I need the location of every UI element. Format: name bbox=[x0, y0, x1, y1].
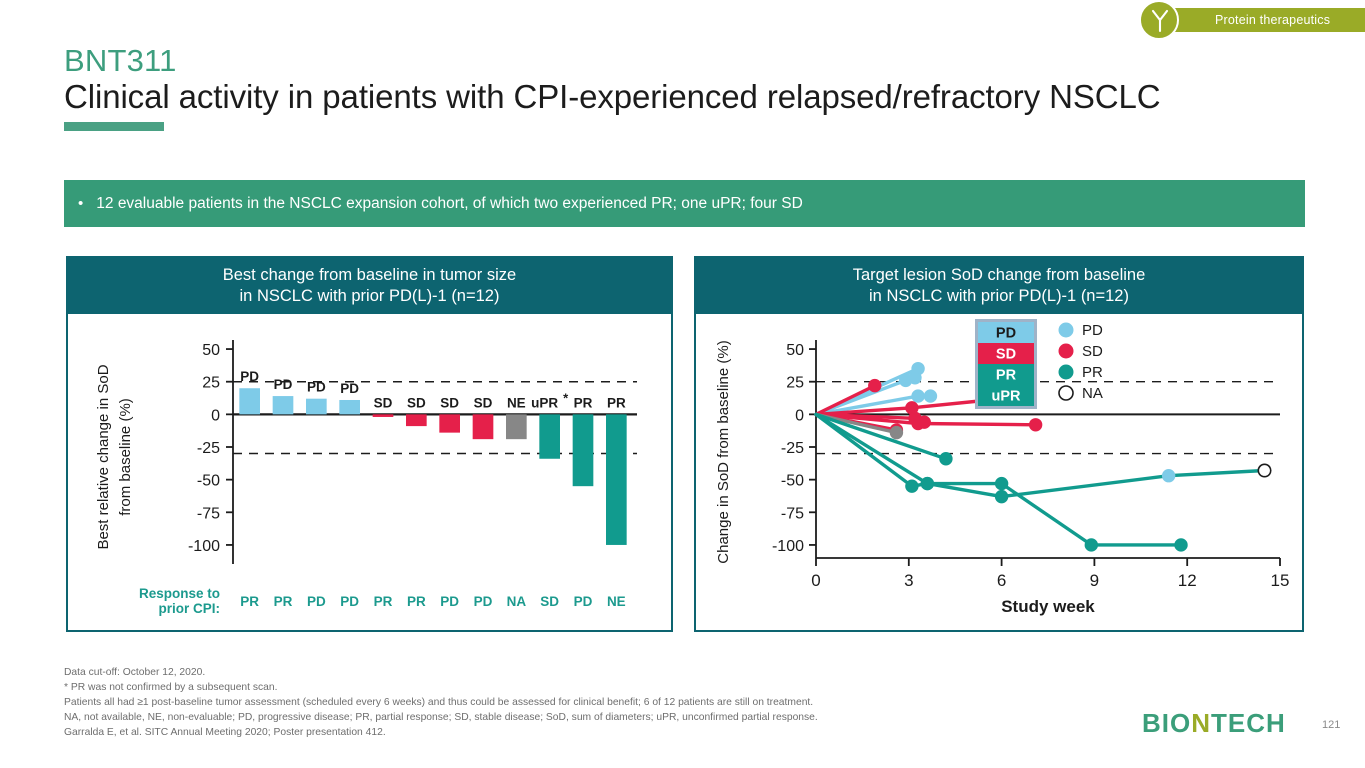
legend-block-label: SD bbox=[996, 347, 1016, 363]
waterfall-prior-cpi-value: PR bbox=[374, 594, 393, 609]
waterfall-bar bbox=[273, 396, 294, 414]
waterfall-chart-body: 50250-25-50-75-100PDPRPDPRPDPDPDPDSDPRSD… bbox=[68, 314, 671, 632]
antibody-icon bbox=[1139, 0, 1179, 40]
waterfall-bar-label: SD bbox=[374, 395, 393, 410]
legend-dot bbox=[1059, 386, 1073, 400]
spider-x-axis-title: Study week bbox=[1001, 597, 1095, 616]
waterfall-bar-label-asterisk: * bbox=[563, 390, 569, 405]
slide-kicker: BNT311 bbox=[64, 43, 177, 79]
waterfall-chart-panel: Best change from baseline in tumor size … bbox=[66, 256, 673, 632]
response-to-prior-cpi-label-line2: prior CPI: bbox=[158, 601, 220, 616]
spider-data-point bbox=[924, 390, 936, 402]
spider-y-tick: 25 bbox=[786, 375, 804, 392]
page-title: Clinical activity in patients with CPI-e… bbox=[64, 78, 1161, 116]
bullet-icon: • bbox=[78, 195, 83, 212]
waterfall-bar-label: PR bbox=[607, 395, 626, 410]
spider-data-point bbox=[909, 372, 921, 384]
waterfall-y-tick: 0 bbox=[211, 407, 220, 424]
spider-data-point bbox=[1258, 464, 1270, 476]
footnotes: Data cut-off: October 12, 2020.* PR was … bbox=[64, 666, 818, 741]
legend-block-label: uPR bbox=[992, 389, 1022, 405]
waterfall-title-line1: Best change from baseline in tumor size bbox=[223, 265, 516, 286]
spider-title-line1: Target lesion SoD change from baseline bbox=[853, 265, 1146, 286]
waterfall-bar-label: PD bbox=[240, 369, 259, 384]
waterfall-bar-label: PD bbox=[274, 377, 293, 392]
waterfall-bar bbox=[439, 414, 460, 432]
spider-x-tick: 0 bbox=[811, 571, 820, 590]
category-badge-label: Protein therapeutics bbox=[1215, 13, 1330, 27]
legend-dot bbox=[1059, 344, 1073, 358]
waterfall-y-tick: -50 bbox=[197, 473, 220, 490]
spider-y-tick: -50 bbox=[781, 473, 804, 490]
title-underline bbox=[64, 122, 164, 131]
legend-dot bbox=[1059, 323, 1073, 337]
spider-x-tick: 12 bbox=[1178, 571, 1197, 590]
spider-chart-body: 50250-25-50-75-10003691215Change in SoD … bbox=[696, 314, 1302, 632]
waterfall-prior-cpi-value: PD bbox=[307, 594, 326, 609]
waterfall-y-axis-title-line1: Best relative change in SoD bbox=[95, 364, 112, 549]
waterfall-bar-label: PR bbox=[574, 395, 593, 410]
spider-chart-svg: 50250-25-50-75-10003691215Change in SoD … bbox=[696, 314, 1302, 632]
spider-data-point bbox=[1085, 539, 1097, 551]
waterfall-bar-label: SD bbox=[474, 395, 493, 410]
waterfall-y-tick: -25 bbox=[197, 440, 220, 457]
waterfall-bar bbox=[373, 414, 394, 417]
spider-y-axis-title: Change in SoD from baseline (%) bbox=[715, 340, 732, 563]
category-badge-bar: Protein therapeutics bbox=[1165, 8, 1365, 32]
waterfall-bar-label: SD bbox=[440, 395, 459, 410]
waterfall-prior-cpi-value: NA bbox=[507, 594, 527, 609]
footnote-line: * PR was not confirmed by a subsequent s… bbox=[64, 681, 818, 696]
spider-data-point bbox=[921, 477, 933, 489]
waterfall-y-tick: -75 bbox=[197, 505, 220, 522]
waterfall-y-axis-title-line2: from baseline (%) bbox=[117, 398, 134, 516]
spider-data-point bbox=[1175, 539, 1187, 551]
waterfall-bar bbox=[339, 400, 360, 414]
logo-part-1: BIO bbox=[1142, 708, 1191, 738]
waterfall-chart-svg: 50250-25-50-75-100PDPRPDPRPDPDPDPDSDPRSD… bbox=[68, 314, 671, 632]
logo-part-3: TECH bbox=[1211, 708, 1286, 738]
page-number: 121 bbox=[1322, 719, 1340, 731]
spider-data-point bbox=[995, 477, 1007, 489]
legend-dot-label: PR bbox=[1082, 364, 1103, 381]
waterfall-bar bbox=[506, 414, 527, 439]
spider-x-tick: 3 bbox=[904, 571, 913, 590]
waterfall-bar bbox=[539, 414, 560, 458]
waterfall-prior-cpi-value: PD bbox=[440, 594, 459, 609]
waterfall-bar bbox=[239, 388, 260, 414]
waterfall-bar bbox=[473, 414, 494, 439]
waterfall-bar-label: SD bbox=[407, 395, 426, 410]
waterfall-title-line2: in NSCLC with prior PD(L)-1 (n=12) bbox=[240, 286, 500, 307]
waterfall-bar-label: NE bbox=[507, 395, 526, 410]
waterfall-bar bbox=[606, 414, 627, 545]
footnote-line: Garralda E, et al. SITC Annual Meeting 2… bbox=[64, 726, 818, 741]
waterfall-y-tick: 25 bbox=[202, 375, 220, 392]
legend-block-label: PD bbox=[996, 326, 1016, 342]
biontech-logo: BIONTECH bbox=[1142, 708, 1286, 739]
spider-y-tick: -100 bbox=[772, 538, 804, 555]
waterfall-prior-cpi-value: SD bbox=[540, 594, 559, 609]
legend-dot-label: NA bbox=[1082, 385, 1103, 402]
key-message-banner: • 12 evaluable patients in the NSCLC exp… bbox=[64, 180, 1305, 227]
spider-data-point bbox=[912, 390, 924, 402]
legend-dot-label: PD bbox=[1082, 322, 1103, 339]
waterfall-y-tick: 50 bbox=[202, 342, 220, 359]
spider-y-tick: 0 bbox=[795, 407, 804, 424]
spider-title-line2: in NSCLC with prior PD(L)-1 (n=12) bbox=[869, 286, 1129, 307]
footnote-line: NA, not available, NE, non-evaluable; PD… bbox=[64, 711, 818, 726]
spider-x-tick: 6 bbox=[997, 571, 1006, 590]
waterfall-prior-cpi-value: PR bbox=[407, 594, 426, 609]
key-message-text: 12 evaluable patients in the NSCLC expan… bbox=[96, 195, 803, 213]
waterfall-bar bbox=[406, 414, 427, 426]
spider-x-tick: 9 bbox=[1090, 571, 1099, 590]
waterfall-bar-label: PD bbox=[307, 380, 326, 395]
waterfall-prior-cpi-value: PD bbox=[340, 594, 359, 609]
spider-y-tick: -75 bbox=[781, 505, 804, 522]
waterfall-bar-label: PD bbox=[340, 381, 359, 396]
spider-chart-title: Target lesion SoD change from baseline i… bbox=[696, 258, 1302, 314]
logo-part-2: N bbox=[1191, 708, 1211, 738]
spider-data-point bbox=[912, 417, 924, 429]
waterfall-y-tick: -100 bbox=[188, 538, 220, 555]
spider-y-tick: 50 bbox=[786, 342, 804, 359]
spider-y-tick: -25 bbox=[781, 440, 804, 457]
category-badge: Protein therapeutics bbox=[1138, 0, 1365, 32]
waterfall-prior-cpi-value: PD bbox=[474, 594, 493, 609]
waterfall-bar bbox=[573, 414, 594, 486]
spider-data-point bbox=[995, 490, 1007, 502]
waterfall-prior-cpi-value: PR bbox=[240, 594, 259, 609]
footnote-line: Data cut-off: October 12, 2020. bbox=[64, 666, 818, 681]
legend-block-label: PR bbox=[996, 368, 1017, 384]
spider-x-tick: 15 bbox=[1271, 571, 1290, 590]
spider-data-point bbox=[1162, 470, 1174, 482]
waterfall-bar-label: uPR bbox=[531, 395, 558, 410]
spider-data-point bbox=[890, 426, 902, 438]
waterfall-prior-cpi-value: PR bbox=[274, 594, 293, 609]
waterfall-prior-cpi-value: NE bbox=[607, 594, 626, 609]
footnote-line: Patients all had ≥1 post-baseline tumor … bbox=[64, 696, 818, 711]
legend-dot bbox=[1059, 365, 1073, 379]
response-to-prior-cpi-label-line1: Response to bbox=[139, 586, 220, 601]
spider-data-point bbox=[906, 480, 918, 492]
waterfall-prior-cpi-value: PD bbox=[574, 594, 593, 609]
spider-data-point bbox=[1029, 419, 1041, 431]
waterfall-chart-title: Best change from baseline in tumor size … bbox=[68, 258, 671, 314]
legend-dot-label: SD bbox=[1082, 343, 1103, 360]
spider-data-point bbox=[869, 379, 881, 391]
spider-chart-panel: Target lesion SoD change from baseline i… bbox=[694, 256, 1304, 632]
spider-data-point bbox=[940, 453, 952, 465]
waterfall-bar bbox=[306, 399, 327, 415]
